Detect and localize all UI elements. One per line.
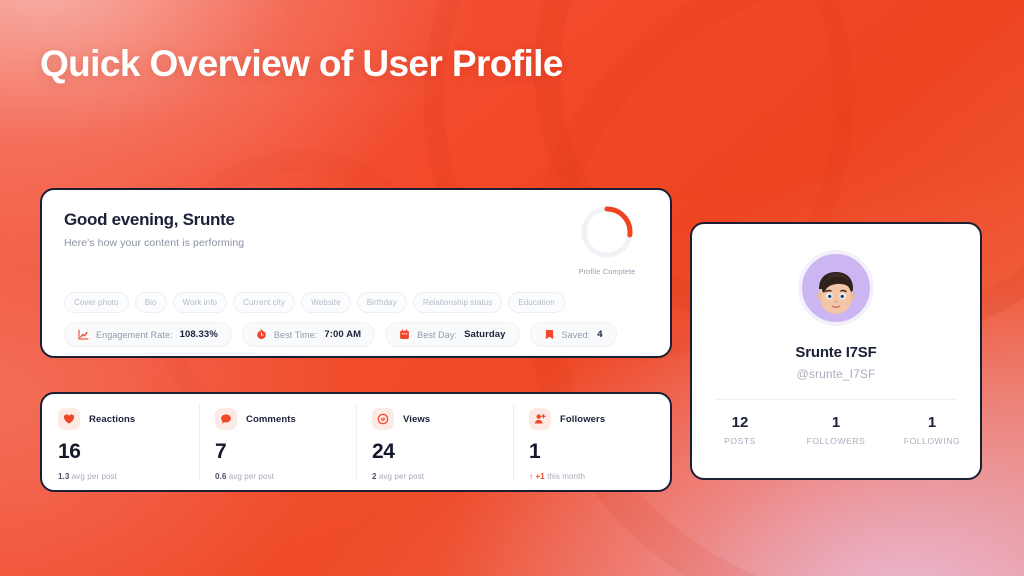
pill-value: 7:00 AM <box>324 329 361 340</box>
chip-relationship-status[interactable]: Relationship status <box>413 292 503 313</box>
metric-label: FOLLOWERS <box>788 436 884 446</box>
chip-education[interactable]: Education <box>508 292 564 313</box>
calendar-icon <box>399 329 410 340</box>
profile-complete-ring: Profile Complete <box>564 204 650 276</box>
stat-header: Reactions <box>58 408 183 430</box>
profile-metrics: 12 POSTS 1 FOLLOWERS 1 FOLLOWING <box>692 414 980 446</box>
divider <box>716 399 956 400</box>
pill-best-day[interactable]: Best Day: Saturday <box>385 322 519 347</box>
metric-following[interactable]: 1 FOLLOWING <box>884 414 980 446</box>
chip-cover-photo[interactable]: Cover photo <box>64 292 129 313</box>
metric-posts[interactable]: 12 POSTS <box>692 414 788 446</box>
chart-line-icon <box>78 329 89 340</box>
stat-value: 24 <box>372 441 497 462</box>
stat-value: 7 <box>215 441 340 462</box>
pill-label: Best Time: <box>274 330 318 340</box>
user-plus-icon <box>529 408 551 430</box>
pill-saved[interactable]: Saved: 4 <box>530 322 617 347</box>
stat-subtext: ↑ +1 this month <box>529 472 654 481</box>
stat-header: Comments <box>215 408 340 430</box>
greeting-text: Good evening, Srunte <box>64 210 648 230</box>
stat-label: Views <box>403 414 430 425</box>
pill-label: Best Day: <box>417 330 457 340</box>
heart-icon <box>58 408 80 430</box>
stat-sub-value: 2 <box>372 472 377 481</box>
stat-label: Comments <box>246 414 296 425</box>
metric-value: 1 <box>788 414 884 431</box>
bookmark-icon <box>544 329 555 340</box>
stat-subtext: 0.6 avg per post <box>215 472 340 481</box>
stat-subtext: 2 avg per post <box>372 472 497 481</box>
stats-card: Reactions 16 1.3 avg per post Comments 7… <box>40 392 672 492</box>
stat-sub-text: avg per post <box>379 472 424 481</box>
profile-completion-chips: Cover photo Bio Work info Current city W… <box>64 292 565 313</box>
insight-pills: Engagement Rate: 108.33% Best Time: 7:00… <box>64 322 617 347</box>
profile-handle: @srunte_I7SF <box>692 367 980 381</box>
stat-value: 16 <box>58 441 183 462</box>
memoji-avatar <box>805 260 867 322</box>
chip-work-info[interactable]: Work info <box>173 292 228 313</box>
stat-subtext: 1.3 avg per post <box>58 472 183 481</box>
profile-card: Srunte I7SF @srunte_I7SF 12 POSTS 1 FOLL… <box>690 222 982 480</box>
avatar[interactable] <box>798 250 874 326</box>
pill-label: Engagement Rate: <box>96 330 173 340</box>
progress-ring <box>579 204 635 260</box>
stat-sub-text: avg per post <box>72 472 117 481</box>
progress-ring-label: Profile Complete <box>564 267 650 276</box>
chip-birthday[interactable]: Birthday <box>357 292 407 313</box>
pill-engagement-rate[interactable]: Engagement Rate: 108.33% <box>64 322 232 347</box>
metric-label: FOLLOWING <box>884 436 980 446</box>
clock-icon <box>256 329 267 340</box>
metric-followers[interactable]: 1 FOLLOWERS <box>788 414 884 446</box>
eye-icon <box>372 408 394 430</box>
stat-label: Reactions <box>89 414 135 425</box>
profile-name: Srunte I7SF <box>692 344 980 361</box>
stat-comments[interactable]: Comments 7 0.6 avg per post <box>199 394 356 490</box>
pill-best-time[interactable]: Best Time: 7:00 AM <box>242 322 375 347</box>
stat-sub-value: +1 <box>535 472 544 481</box>
trend-up-icon: ↑ <box>529 472 533 481</box>
stat-followers[interactable]: Followers 1 ↑ +1 this month <box>513 394 670 490</box>
stat-sub-text: avg per post <box>229 472 274 481</box>
overview-card: Good evening, Srunte Here's how your con… <box>40 188 672 358</box>
pill-value: 4 <box>597 329 602 340</box>
stat-views[interactable]: Views 24 2 avg per post <box>356 394 513 490</box>
stat-sub-value: 1.3 <box>58 472 69 481</box>
stat-label: Followers <box>560 414 605 425</box>
metric-value: 12 <box>692 414 788 431</box>
comment-icon <box>215 408 237 430</box>
stat-header: Views <box>372 408 497 430</box>
pill-value: Saturday <box>464 329 505 340</box>
stat-header: Followers <box>529 408 654 430</box>
chip-bio[interactable]: Bio <box>135 292 167 313</box>
chip-current-city[interactable]: Current city <box>233 292 295 313</box>
pill-value: 108.33% <box>180 329 218 340</box>
greeting-subtitle: Here's how your content is performing <box>64 237 648 249</box>
stat-reactions[interactable]: Reactions 16 1.3 avg per post <box>42 394 199 490</box>
chip-website[interactable]: Website <box>301 292 350 313</box>
pill-label: Saved: <box>562 330 591 340</box>
stat-value: 1 <box>529 441 654 462</box>
metric-value: 1 <box>884 414 980 431</box>
metric-label: POSTS <box>692 436 788 446</box>
page-title: Quick Overview of User Profile <box>40 44 563 85</box>
stat-sub-value: 0.6 <box>215 472 226 481</box>
stat-sub-text: this month <box>547 472 585 481</box>
